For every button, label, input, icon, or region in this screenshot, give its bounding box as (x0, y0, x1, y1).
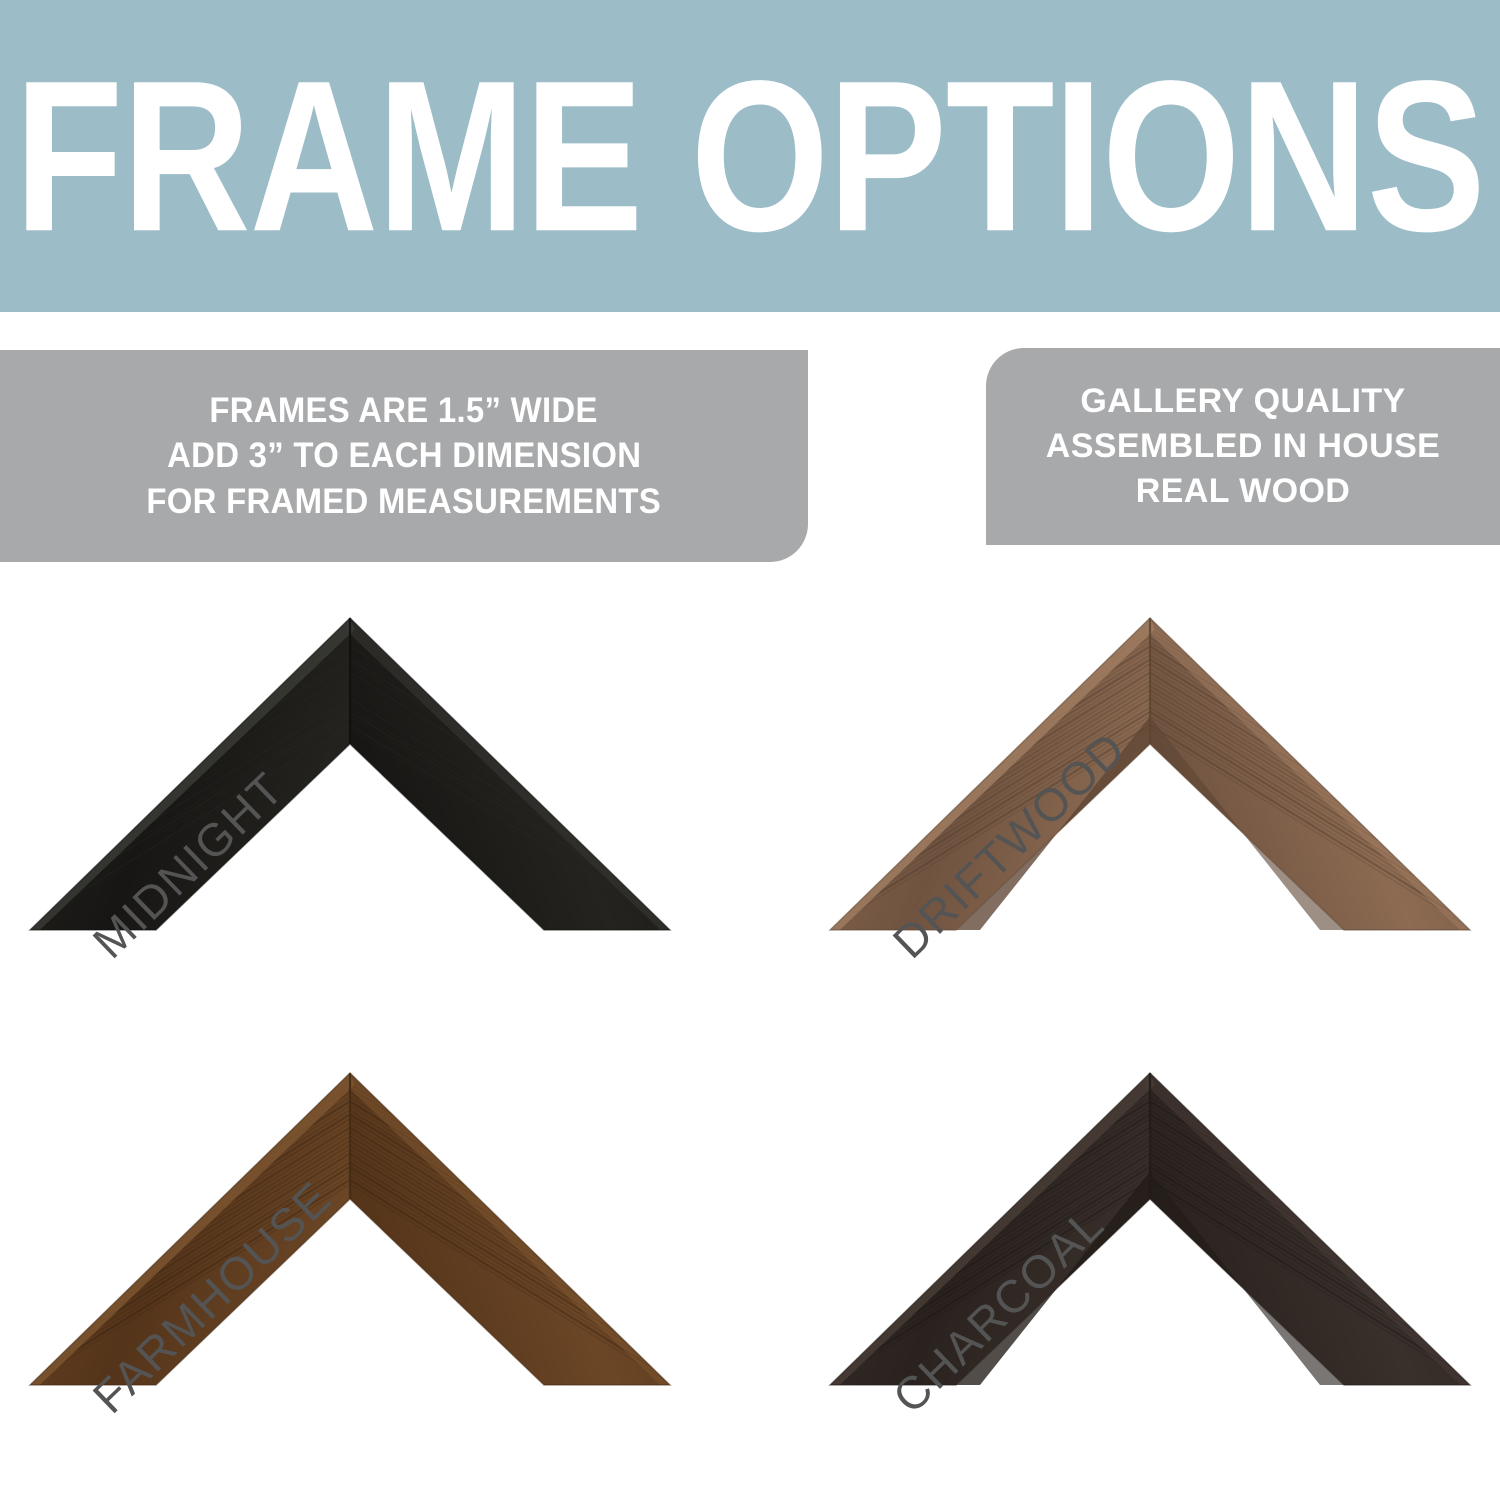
frame-option-midnight[interactable]: MIDNIGHT (20, 600, 680, 945)
quality-line-2: ASSEMBLED IN HOUSE (1046, 424, 1440, 469)
measurement-line-2: ADD 3” TO EACH DIMENSION (167, 433, 641, 479)
quality-line-3: REAL WOOD (1136, 469, 1351, 514)
measurement-line-1: FRAMES ARE 1.5” WIDE (210, 388, 598, 434)
page-title: FRAME OPTIONS (15, 48, 1485, 263)
quality-line-1: GALLERY QUALITY (1080, 379, 1405, 424)
header-banner: FRAME OPTIONS (0, 0, 1500, 312)
measurement-line-3: FOR FRAMED MEASUREMENTS (147, 479, 662, 525)
info-panel-quality: GALLERY QUALITY ASSEMBLED IN HOUSE REAL … (986, 348, 1500, 545)
info-panel-measurements: FRAMES ARE 1.5” WIDE ADD 3” TO EACH DIME… (0, 350, 808, 562)
frame-option-charcoal[interactable]: CHARCOAL (820, 1055, 1480, 1400)
frame-option-farmhouse[interactable]: FARMHOUSE (20, 1055, 680, 1400)
frame-option-driftwood[interactable]: DRIFTWOOD (820, 600, 1480, 945)
